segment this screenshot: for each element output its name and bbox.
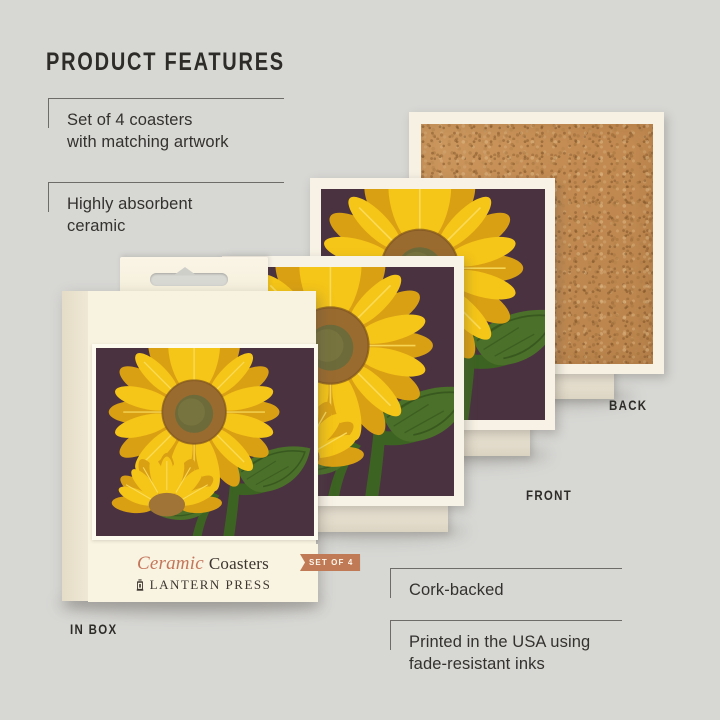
label-brand-text: LANTERN PRESS [150,577,272,593]
feature-rule-vertical [390,568,391,598]
product-photo-group: RESS [0,0,720,720]
box-label-title-line: Ceramic Coasters [137,553,269,575]
set-of-4-badge: SET OF 4 [300,554,360,571]
label-word-ceramic: Ceramic [137,553,204,575]
feature-rule-horizontal [48,182,284,183]
caption-in-box: IN BOX [70,621,117,637]
feature-text: Printed in the USA using fade-resistant … [409,631,590,675]
feature-rule-horizontal [390,568,622,569]
box-brand-label: Ceramic Coasters LANTERN PRESS [88,544,318,602]
feature-text: Highly absorbent ceramic [67,193,192,237]
feature-rule-horizontal [390,620,622,621]
product-feature-sheet: RESS [0,0,720,720]
caption-front: FRONT [526,487,572,503]
sunflower-artwork [96,348,314,536]
feature-rule-horizontal [48,98,284,99]
hang-tab-slot [150,273,228,286]
page-title: PRODUCT FEATURES [46,48,285,77]
box-side-panel [62,291,88,601]
feature-text: Set of 4 coasters with matching artwork [67,109,229,153]
lantern-icon [135,579,145,592]
label-word-coasters: Coasters [209,554,269,574]
feature-rule-vertical [48,182,49,212]
feature-rule-vertical [390,620,391,650]
feature-rule-vertical [48,98,49,128]
feature-text: Cork-backed [409,579,504,601]
box-artwork-window [92,344,318,540]
box-label-brand-line: LANTERN PRESS [135,577,272,593]
caption-back: BACK [609,397,647,413]
